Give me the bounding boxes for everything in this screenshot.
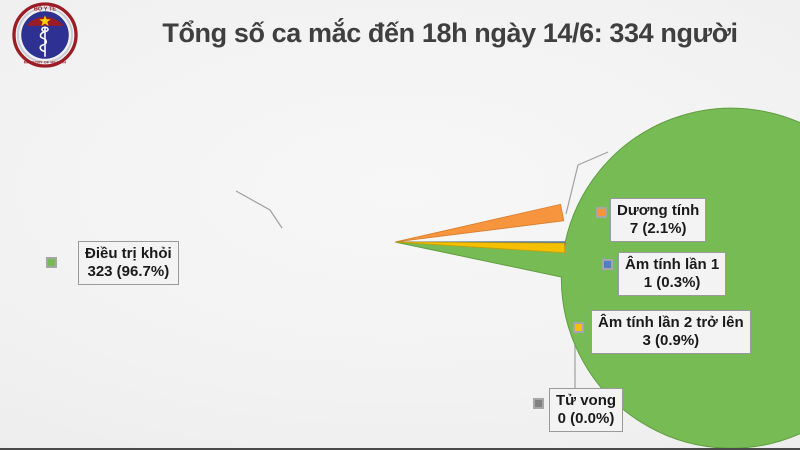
legend-swatch-positive (596, 207, 607, 218)
callout-deaths-label: Tử vong (556, 392, 616, 410)
callout-deaths-value: 0 (0.0%) (556, 410, 616, 428)
ministry-of-health-logo: BỘ Y TẾ MINISTRY OF HEALTH (12, 2, 78, 68)
callout-positive-value: 7 (2.1%) (617, 220, 699, 238)
callout-recovered-label: Điều trị khỏi (85, 245, 172, 263)
slide-canvas: BỘ Y TẾ MINISTRY OF HEALTH Tổng số ca mắ… (0, 0, 800, 450)
callout-negative-2[interactable]: Âm tính lần 2 trở lên 3 (0.9%) (591, 310, 751, 354)
pie-chart: Điều trị khỏi 323 (96.7%) Dương tính 7 (… (0, 60, 800, 450)
callout-deaths[interactable]: Tử vong 0 (0.0%) (549, 388, 623, 432)
pie-slice-positive[interactable] (393, 204, 564, 242)
legend-swatch-deaths (533, 398, 544, 409)
callout-negative-1[interactable]: Âm tính lần 1 1 (0.3%) (618, 252, 726, 296)
callout-negative-2-label: Âm tính lần 2 trở lên (598, 314, 744, 332)
callout-negative-1-label: Âm tính lần 1 (625, 256, 719, 274)
legend-swatch-negative-2 (573, 322, 584, 333)
ministry-of-health-emblem-icon: BỘ Y TẾ MINISTRY OF HEALTH (12, 2, 78, 68)
callout-negative-1-value: 1 (0.3%) (625, 274, 719, 292)
callout-recovered-value: 323 (96.7%) (85, 263, 172, 281)
callout-positive-label: Dương tính (617, 202, 699, 220)
legend-swatch-negative-1 (602, 259, 613, 270)
legend-swatch-recovered (46, 257, 57, 268)
callout-negative-2-value: 3 (0.9%) (598, 332, 744, 350)
callout-recovered[interactable]: Điều trị khỏi 323 (96.7%) (78, 241, 179, 285)
page-title: Tổng số ca mắc đến 18h ngày 14/6: 334 ng… (110, 18, 790, 49)
callout-positive[interactable]: Dương tính 7 (2.1%) (610, 198, 706, 242)
